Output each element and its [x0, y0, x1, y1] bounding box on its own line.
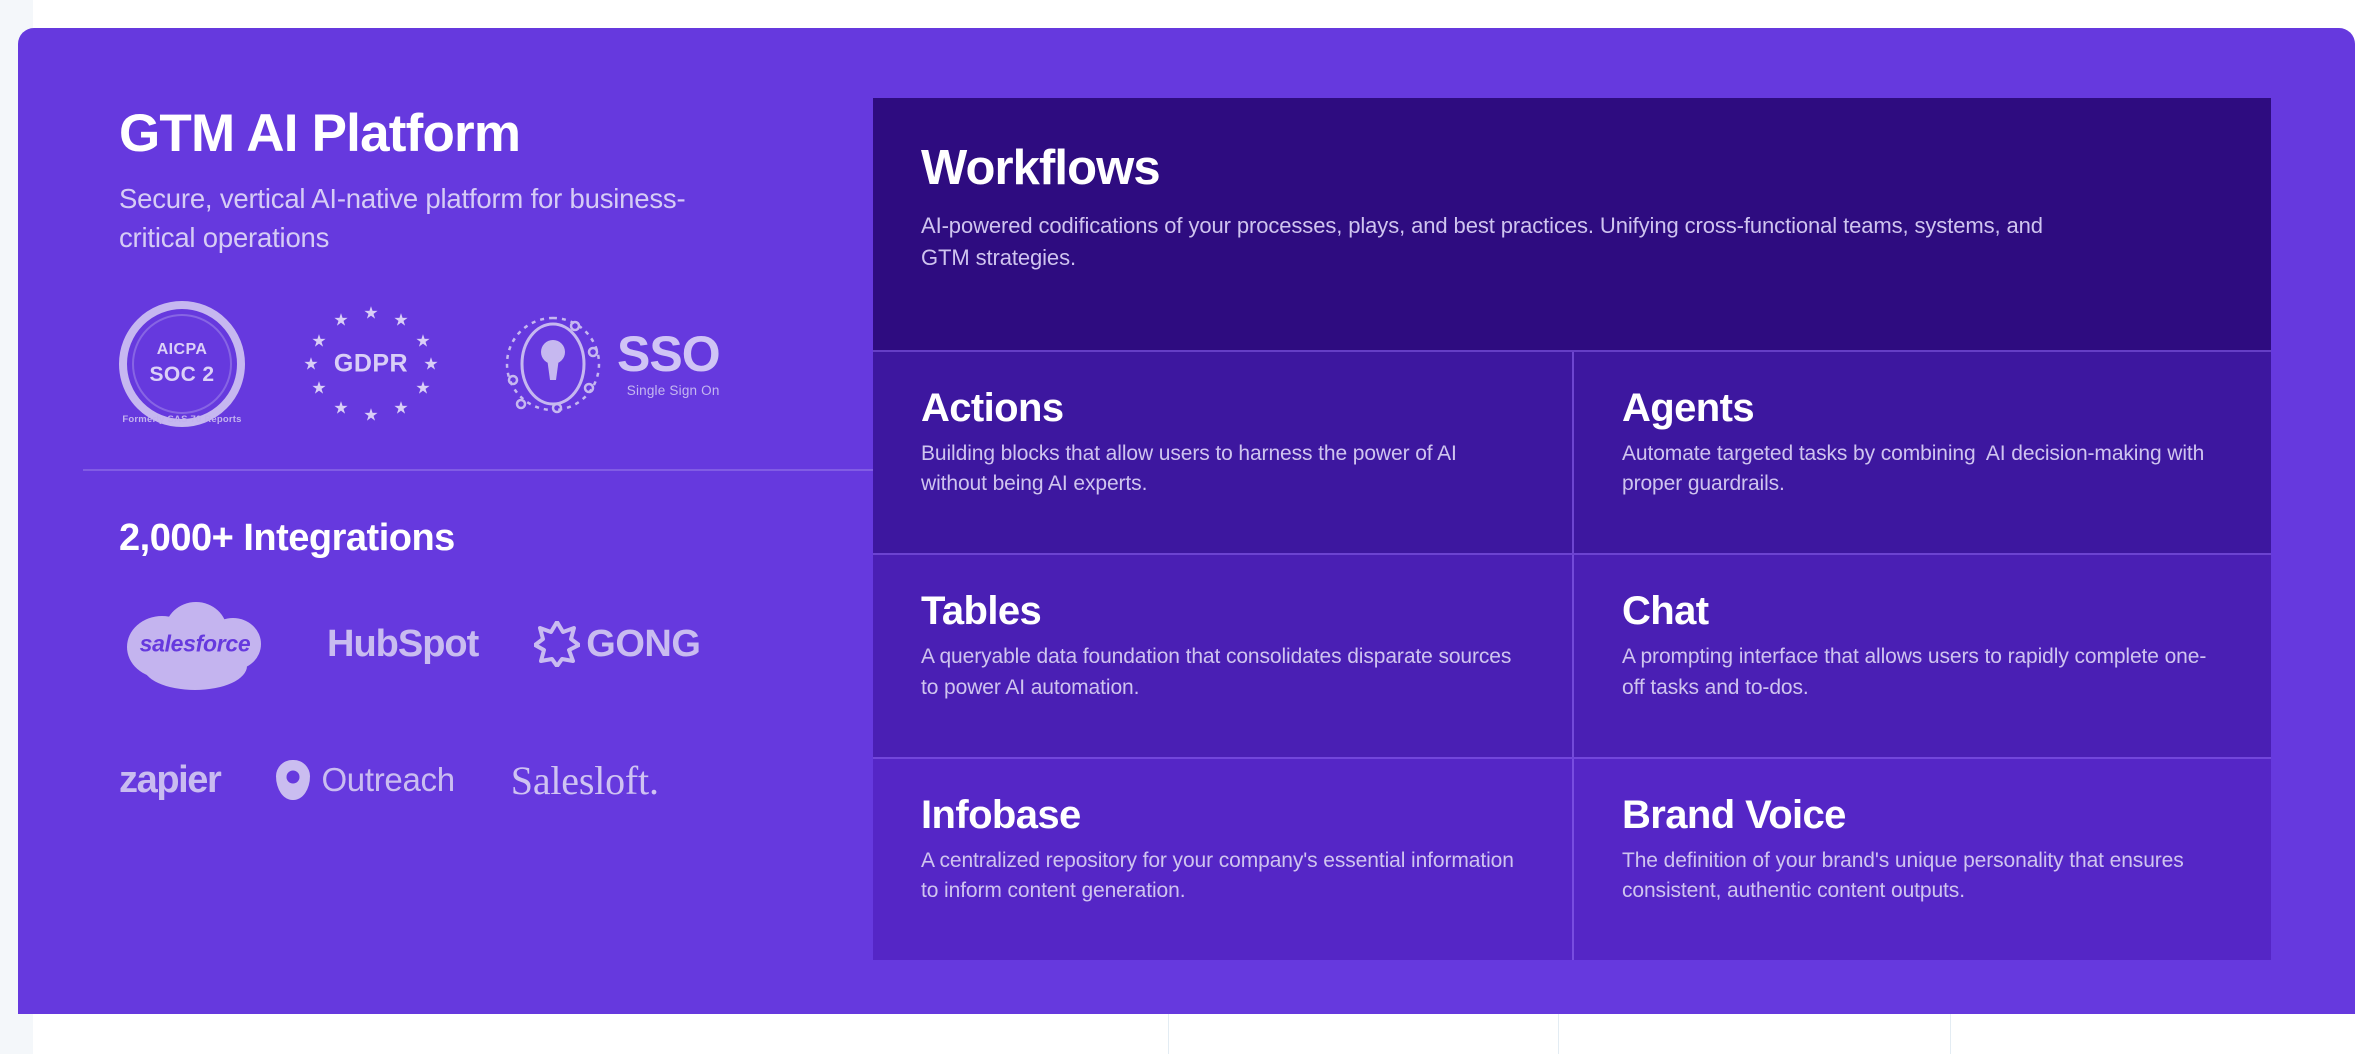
card-description: A queryable data foundation that consoli… — [921, 642, 1528, 703]
card-title: Actions — [921, 386, 1528, 430]
salesloft-wordmark: Salesloft. — [511, 758, 659, 803]
sso-lock-icon — [497, 308, 609, 420]
gdpr-star-icon: ★ — [363, 407, 378, 424]
soc2-ribbon-label: Formerly SAS 70 Reports — [122, 414, 242, 425]
card-description: A prompting interface that allows users … — [1622, 642, 2227, 703]
list-item[interactable]: salesforce — [119, 596, 271, 692]
soc2-badge-icon: AICPA SOC 2 Formerly SAS 70 Reports — [119, 301, 245, 427]
gong-wordmark: GONG — [586, 623, 700, 666]
sso-badge-icon: SSO Single Sign On — [497, 308, 720, 420]
gdpr-star-icon: ★ — [311, 333, 326, 350]
gdpr-star-icon: ★ — [393, 312, 408, 329]
list-item[interactable]: HubSpot — [327, 596, 478, 692]
gdpr-star-icon: ★ — [393, 400, 408, 417]
gdpr-star-icon: ★ — [363, 305, 378, 322]
outreach-pin-icon — [276, 760, 310, 800]
gong-logo-icon: GONG — [534, 621, 700, 667]
feature-row-1: Actions Building blocks that allow users… — [873, 350, 2271, 553]
table-column-divider-1 — [1168, 1014, 1169, 1054]
left-column: GTM AI Platform Secure, vertical AI-nati… — [18, 28, 853, 1014]
zapier-logo-icon: zapier — [119, 759, 220, 802]
list-item[interactable]: Outreach — [276, 732, 454, 828]
card-title: Tables — [921, 589, 1528, 633]
salesforce-logo-icon: salesforce — [119, 596, 271, 692]
salesforce-wordmark: salesforce — [140, 631, 251, 658]
feature-card-tables[interactable]: Tables A queryable data foundation that … — [873, 555, 1572, 756]
outreach-logo-icon: Outreach — [276, 760, 454, 800]
feature-card-actions[interactable]: Actions Building blocks that allow users… — [873, 352, 1572, 553]
gdpr-star-icon: ★ — [415, 380, 430, 397]
card-description: Building blocks that allow users to harn… — [921, 439, 1528, 500]
gong-starburst-icon — [534, 621, 580, 667]
integration-logos-row-1: salesforce HubSpot — [119, 596, 853, 692]
page-subtitle: Secure, vertical AI-native platform for … — [119, 179, 739, 257]
salesloft-logo-icon: Salesloft. — [511, 757, 659, 804]
table-column-divider-3 — [1950, 1014, 1951, 1054]
list-item[interactable]: zapier — [119, 732, 220, 828]
feature-row-3: Infobase A centralized repository for yo… — [873, 757, 2271, 960]
feature-card-chat[interactable]: Chat A prompting interface that allows u… — [1572, 555, 2271, 756]
list-item[interactable]: Salesloft. — [511, 732, 659, 828]
feature-grid: Workflows AI-powered codifications of yo… — [873, 98, 2271, 960]
compliance-badges: AICPA SOC 2 Formerly SAS 70 Reports GDPR… — [119, 301, 853, 427]
soc2-level-label: SOC 2 — [149, 363, 214, 387]
gdpr-star-icon: ★ — [311, 380, 326, 397]
gdpr-star-icon: ★ — [423, 356, 438, 373]
gtm-ai-platform-panel: GTM AI Platform Secure, vertical AI-nati… — [18, 28, 2355, 1014]
sso-sublabel: Single Sign On — [627, 383, 720, 398]
card-description: AI-powered codifications of your process… — [921, 210, 2081, 274]
card-description: The definition of your brand's unique pe… — [1622, 846, 2227, 907]
card-title: Workflows — [921, 142, 2227, 196]
card-title: Chat — [1622, 589, 2227, 633]
gdpr-star-icon: ★ — [415, 333, 430, 350]
zapier-wordmark: zapier — [119, 759, 220, 801]
sso-label: SSO — [617, 331, 720, 379]
integrations-title: 2,000+ Integrations — [119, 517, 853, 560]
card-title: Infobase — [921, 793, 1528, 837]
integration-logos-row-2: zapier Outreach Salesloft. — [119, 732, 853, 828]
gdpr-star-icon: ★ — [333, 400, 348, 417]
gdpr-badge-icon: GDPR ★ ★ ★ ★ ★ ★ ★ ★ ★ ★ ★ ★ — [297, 301, 445, 427]
card-title: Agents — [1622, 386, 2227, 430]
card-description: A centralized repository for your compan… — [921, 846, 1528, 907]
gdpr-label: GDPR — [334, 350, 408, 379]
page-root: GTM AI Platform Secure, vertical AI-nati… — [0, 0, 2355, 1054]
feature-card-brand-voice[interactable]: Brand Voice The definition of your brand… — [1572, 759, 2271, 960]
soc2-aicpa-label: AICPA — [157, 341, 208, 359]
card-title: Brand Voice — [1622, 793, 2227, 837]
gdpr-star-icon: ★ — [303, 356, 318, 373]
card-description: Automate targeted tasks by combining AI … — [1622, 439, 2227, 500]
feature-card-agents[interactable]: Agents Automate targeted tasks by combin… — [1572, 352, 2271, 553]
page-title: GTM AI Platform — [119, 104, 853, 163]
hubspot-logo-icon: HubSpot — [327, 623, 478, 666]
outreach-wordmark: Outreach — [321, 761, 454, 799]
feature-card-workflows[interactable]: Workflows AI-powered codifications of yo… — [873, 98, 2271, 350]
list-item[interactable]: GONG — [534, 596, 700, 692]
feature-card-infobase[interactable]: Infobase A centralized repository for yo… — [873, 759, 1572, 960]
gdpr-star-icon: ★ — [333, 312, 348, 329]
table-column-divider-2 — [1558, 1014, 1559, 1054]
feature-row-2: Tables A queryable data foundation that … — [873, 553, 2271, 756]
